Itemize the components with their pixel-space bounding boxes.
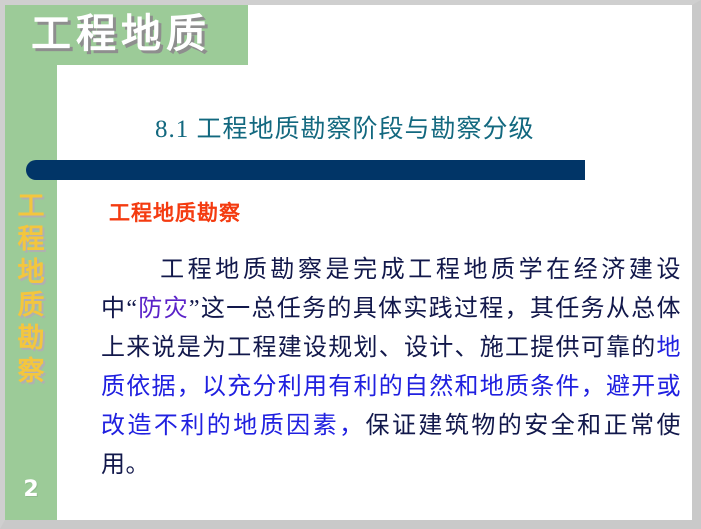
body-segment: ”这一总任务的具体实践过程，其任务从总体上来说是为工程建设规划、设计、施工提供可… bbox=[101, 296, 681, 361]
sidebar-vertical-char: 察 bbox=[5, 355, 57, 388]
body-segment-highlight: 防灾 bbox=[137, 296, 188, 322]
sidebar-vertical-char: 工 bbox=[5, 190, 57, 223]
navy-divider-bar bbox=[26, 160, 585, 180]
slide-frame: 工程地质 工 程 地 质 勘 察 2 8.1 工程地质勘察阶段与勘察分级 工程地… bbox=[0, 0, 701, 529]
sidebar-vertical-char: 质 bbox=[5, 289, 57, 322]
banner-title: 工程地质 bbox=[31, 8, 211, 60]
body-segment-quote-open: “ bbox=[126, 296, 137, 322]
sidebar-vertical-char: 地 bbox=[5, 256, 57, 289]
sub-heading: 工程地质勘察 bbox=[109, 197, 241, 227]
body-paragraph: 工程地质勘察是完成工程地质学在经济建设中“防灾”这一总任务的具体实践过程，其任务… bbox=[101, 251, 681, 485]
slide-canvas: 工程地质 工 程 地 质 勘 察 2 8.1 工程地质勘察阶段与勘察分级 工程地… bbox=[5, 5, 692, 520]
sidebar-vertical-title: 工 程 地 质 勘 察 bbox=[5, 190, 57, 388]
sidebar-vertical-char: 程 bbox=[5, 223, 57, 256]
sidebar-vertical-char: 勘 bbox=[5, 322, 57, 355]
page-number: 2 bbox=[5, 477, 57, 502]
slide-heading: 8.1 工程地质勘察阶段与勘察分级 bbox=[155, 109, 535, 145]
